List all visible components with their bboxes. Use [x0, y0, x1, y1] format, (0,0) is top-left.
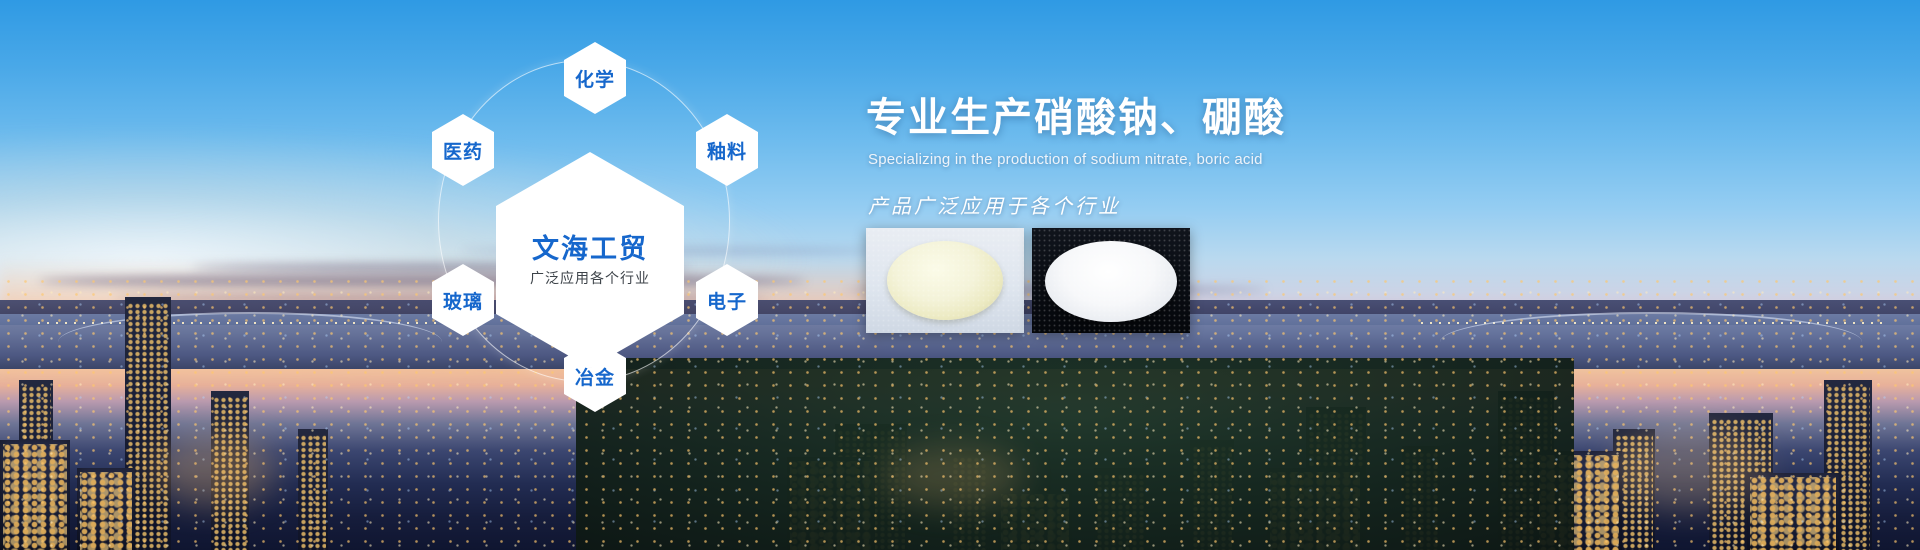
powder-grain-texture	[866, 228, 1024, 333]
industry-hex-diagram: 化学 釉料 电子 冶金 玻璃 医药 文海工贸 广泛应用各个行业	[430, 28, 760, 428]
headline-subtitle-en: Specializing in the production of sodium…	[868, 151, 1566, 168]
headline-title: 专业生产硝酸钠、硼酸	[866, 96, 1566, 141]
light-glow	[154, 435, 274, 505]
product-image-boric-acid[interactable]	[1032, 228, 1190, 333]
hex-node-label: 电子	[707, 287, 747, 314]
headline-block: 专业生产硝酸钠、硼酸 Specializing in the productio…	[866, 96, 1566, 219]
headline-tagline-cn: 产品广泛应用于各个行业	[868, 190, 1566, 219]
company-tagline: 广泛应用各个行业	[530, 271, 650, 285]
hex-node-label: 玻璃	[443, 287, 483, 314]
company-name: 文海工贸	[532, 236, 648, 263]
product-image-sodium-nitrate[interactable]	[866, 228, 1024, 333]
light-glow	[883, 446, 1023, 506]
hex-node-label: 釉料	[707, 137, 747, 164]
powder-grain-texture	[1032, 228, 1190, 333]
hex-node-label: 医药	[443, 137, 483, 164]
hex-node-label: 冶金	[575, 363, 615, 390]
light-glow	[1613, 429, 1763, 509]
product-image-row	[866, 228, 1190, 333]
hero-banner: 化学 釉料 电子 冶金 玻璃 医药 文海工贸 广泛应用各个行业 专业生产硝酸钠、…	[0, 0, 1920, 550]
hex-node-label: 化学	[575, 65, 615, 92]
